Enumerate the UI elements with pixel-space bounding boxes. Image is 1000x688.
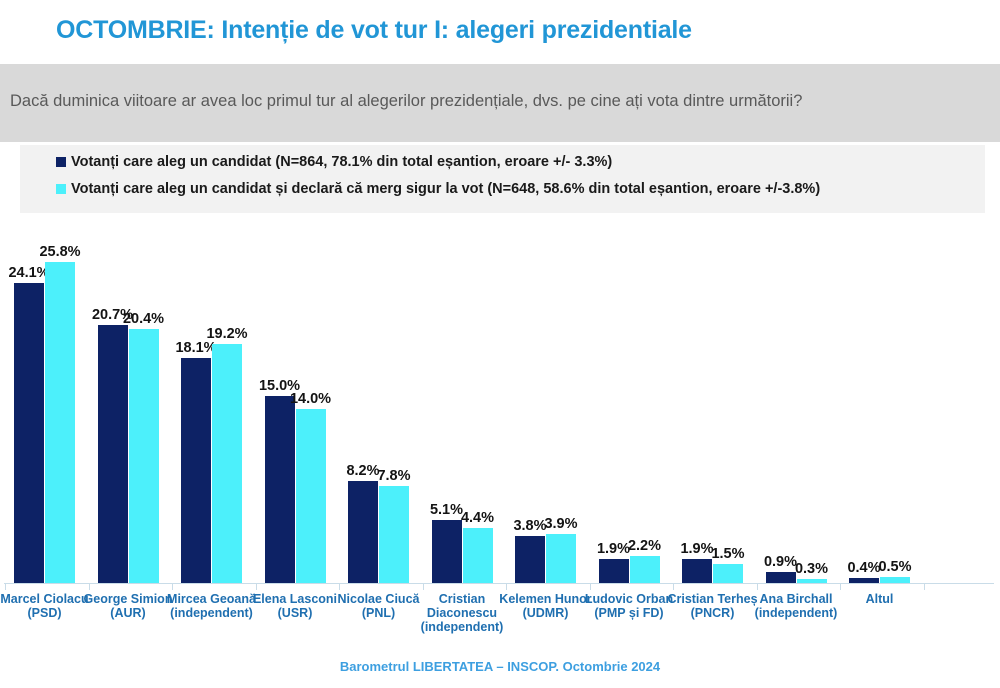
question-text: Dacă duminica viitoare ar avea loc primu… <box>10 92 802 111</box>
x-axis-tick <box>506 584 507 590</box>
category-label-line: (independent) <box>744 606 848 620</box>
x-axis-tick <box>757 584 758 590</box>
chart-plot-area: 24.1%25.8%20.7%20.4%18.1%19.2%15.0%14.0%… <box>0 225 1000 583</box>
bar-value-label: 7.8% <box>370 468 418 484</box>
legend-item-label: Votanți care aleg un candidat (N=864, 78… <box>71 154 612 170</box>
x-axis-line <box>4 583 994 584</box>
bar[interactable] <box>181 358 211 583</box>
bar[interactable] <box>682 559 712 583</box>
x-axis-tick <box>924 584 925 590</box>
bar[interactable] <box>14 283 44 583</box>
x-axis-tick <box>256 584 257 590</box>
bar[interactable] <box>713 564 743 583</box>
bar[interactable] <box>630 556 660 583</box>
bar[interactable] <box>515 536 545 583</box>
x-axis-category-label: Altul <box>828 592 932 606</box>
bar-value-label: 0.5% <box>871 559 919 575</box>
bar[interactable] <box>546 534 576 583</box>
x-axis-tick <box>590 584 591 590</box>
bar[interactable] <box>265 396 295 583</box>
legend-item-1[interactable]: Votanți care aleg un candidat și declară… <box>56 181 820 197</box>
bar-value-label: 19.2% <box>203 326 251 342</box>
x-axis-tick <box>5 584 6 590</box>
bar-value-label: 2.2% <box>621 538 669 554</box>
bar[interactable] <box>379 486 409 583</box>
category-label-line: (independent) <box>410 620 514 634</box>
x-axis-category-labels: Marcel Ciolacu(PSD)George Simion(AUR)Mir… <box>0 592 1000 652</box>
bar[interactable] <box>348 481 378 583</box>
category-label-line: Altul <box>828 592 932 606</box>
bar-chart: 24.1%25.8%20.7%20.4%18.1%19.2%15.0%14.0%… <box>0 225 1000 625</box>
x-axis-tick <box>172 584 173 590</box>
bar[interactable] <box>296 409 326 583</box>
bar-value-label: 1.5% <box>704 546 752 562</box>
chart-source-footer: Barometrul LIBERTATEA – INSCOP. Octombri… <box>0 659 1000 674</box>
bar[interactable] <box>599 559 629 583</box>
bar[interactable] <box>463 528 493 583</box>
legend-swatch-icon <box>56 184 66 194</box>
page-title: OCTOMBRIE: Intenție de vot tur I: aleger… <box>56 16 692 45</box>
bar[interactable] <box>129 329 159 583</box>
bar[interactable] <box>98 325 128 583</box>
x-axis-tick <box>423 584 424 590</box>
legend-swatch-icon <box>56 157 66 167</box>
bar-value-label: 25.8% <box>36 244 84 260</box>
bar-value-label: 14.0% <box>287 391 335 407</box>
question-band: Dacă duminica viitoare ar avea loc primu… <box>0 64 1000 142</box>
bar-value-label: 20.4% <box>120 311 168 327</box>
x-axis-tick <box>840 584 841 590</box>
bar[interactable] <box>45 262 75 583</box>
bar-value-label: 3.9% <box>537 516 585 532</box>
legend-item-label: Votanți care aleg un candidat și declară… <box>71 181 820 197</box>
bar-value-label: 0.3% <box>788 561 836 577</box>
bar-value-label: 4.4% <box>454 510 502 526</box>
legend-item-0[interactable]: Votanți care aleg un candidat (N=864, 78… <box>56 154 612 170</box>
x-axis-tick <box>673 584 674 590</box>
x-axis-tick <box>339 584 340 590</box>
bar[interactable] <box>212 344 242 583</box>
title-bar: OCTOMBRIE: Intenție de vot tur I: aleger… <box>0 0 1000 64</box>
bar[interactable] <box>432 520 462 583</box>
x-axis-tick <box>89 584 90 590</box>
chart-legend: Votanți care aleg un candidat (N=864, 78… <box>20 145 985 213</box>
